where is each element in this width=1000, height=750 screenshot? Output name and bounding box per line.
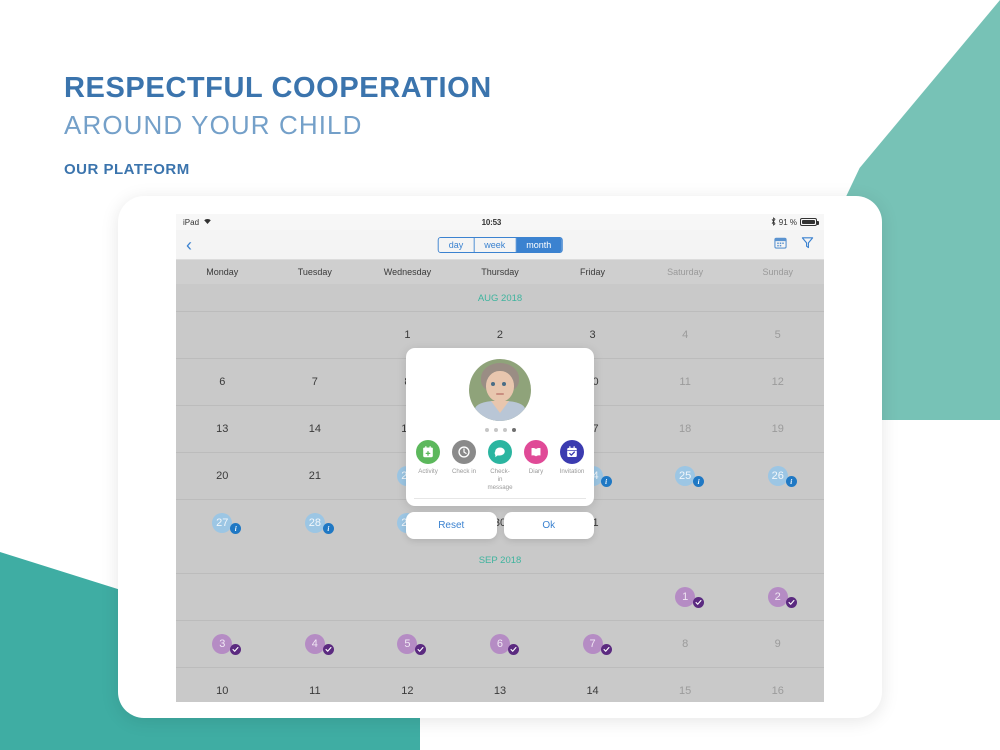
day-number: 4	[305, 634, 325, 654]
day-number: 8	[682, 638, 688, 650]
calendar-day-cell[interactable]: 5	[361, 621, 454, 667]
calendar-day-cell[interactable]: 11	[639, 359, 732, 405]
calendar-empty-cell	[546, 574, 639, 620]
calendar-day-highlighted: 7	[583, 634, 603, 654]
modal-action-label: Check in	[452, 468, 476, 476]
modal-card: ActivityCheck inCheck-in messageDiaryInv…	[406, 348, 594, 506]
page-eyebrow: OUR PLATFORM	[64, 161, 492, 178]
weekday-monday: Monday	[176, 267, 269, 277]
calendar-day-highlighted: 4	[305, 634, 325, 654]
battery-percent: 91 %	[779, 218, 797, 227]
check-badge-icon[interactable]	[693, 597, 704, 608]
modal-action-check-in[interactable]: Check in	[450, 440, 478, 491]
modal-action-label: Check-in message	[486, 468, 514, 491]
calendar-day-cell[interactable]: 14	[269, 406, 362, 452]
app-toolbar: ‹ day week month	[176, 230, 824, 260]
info-badge-icon[interactable]: i	[693, 476, 704, 487]
check-badge-icon[interactable]	[230, 644, 241, 655]
status-bar: iPad 10:53 91 %	[176, 214, 824, 230]
weekday-header-row: Monday Tuesday Wednesday Thursday Friday…	[176, 260, 824, 284]
calendar-day-cell[interactable]: 15	[639, 668, 732, 702]
info-badge-icon[interactable]: i	[601, 476, 612, 487]
weekday-wednesday: Wednesday	[361, 267, 454, 277]
calendar-day-cell[interactable]: 7	[546, 621, 639, 667]
filter-icon[interactable]	[801, 236, 814, 254]
modal-divider	[414, 498, 586, 499]
modal-action-label: Invitation	[560, 468, 585, 476]
calendar-empty-cell	[639, 500, 732, 546]
day-number: 9	[775, 638, 781, 650]
calendar-day-cell[interactable]: 3	[176, 621, 269, 667]
calendar-day-cell[interactable]: 16	[731, 668, 824, 702]
day-number: 13	[494, 685, 506, 697]
modal-action-label: Activity	[418, 468, 438, 476]
modal-action-diary[interactable]: Diary	[522, 440, 550, 491]
day-number: 14	[586, 685, 598, 697]
day-number: 25	[675, 466, 695, 486]
bluetooth-icon	[771, 217, 776, 228]
back-button[interactable]: ‹	[186, 236, 192, 254]
day-number: 3	[590, 329, 596, 341]
calendar-empty-cell	[361, 574, 454, 620]
calendar-picker-icon[interactable]	[774, 236, 787, 254]
day-number: 7	[583, 634, 603, 654]
day-number: 2	[497, 329, 503, 341]
calendar-day-cell[interactable]: 21	[269, 453, 362, 499]
calendar-day-cell[interactable]: 2	[731, 574, 824, 620]
day-number: 12	[772, 376, 784, 388]
calendar-day-cell[interactable]: 13	[454, 668, 547, 702]
calendar-day-cell[interactable]: 4	[269, 621, 362, 667]
calendar-day-cell[interactable]: 18	[639, 406, 732, 452]
calendar-day-cell[interactable]: 11	[269, 668, 362, 702]
status-time: 10:53	[212, 218, 771, 227]
segment-week[interactable]: week	[474, 238, 516, 252]
weekday-tuesday: Tuesday	[269, 267, 362, 277]
calendar-day-cell[interactable]: 12	[361, 668, 454, 702]
weekday-sunday: Sunday	[731, 267, 824, 277]
day-number: 18	[679, 423, 691, 435]
calendar-empty-cell	[454, 574, 547, 620]
day-number: 7	[312, 376, 318, 388]
calendar-day-cell[interactable]: 1	[639, 574, 732, 620]
calendar-day-cell[interactable]: 14	[546, 668, 639, 702]
calendar-day-highlighted: 1	[675, 587, 695, 607]
calendar-day-highlighted: 5	[397, 634, 417, 654]
weekday-thursday: Thursday	[454, 267, 547, 277]
status-bar-right: 91 %	[771, 217, 817, 228]
calendar-day-highlighted: 25i	[675, 466, 695, 486]
open-book-icon	[524, 440, 548, 464]
modal-action-invitation[interactable]: Invitation	[558, 440, 586, 491]
pagination-dots[interactable]	[485, 428, 516, 432]
day-number: 12	[401, 685, 413, 697]
pagination-dot[interactable]	[512, 428, 516, 432]
day-number: 11	[309, 685, 320, 697]
pagination-dot[interactable]	[494, 428, 498, 432]
day-number: 27	[212, 513, 232, 533]
calendar-day-cell[interactable]: 4	[639, 312, 732, 358]
day-number: 1	[675, 587, 695, 607]
calendar-day-cell[interactable]: 10	[176, 668, 269, 702]
check-badge-icon[interactable]	[508, 644, 519, 655]
calendar-empty-cell	[731, 500, 824, 546]
reset-button[interactable]: Reset	[406, 512, 497, 539]
ok-button[interactable]: Ok	[504, 512, 595, 539]
wifi-icon	[203, 217, 212, 227]
page-title: RESPECTFUL COOPERATION	[64, 70, 492, 106]
day-number: 20	[216, 470, 228, 482]
weekday-saturday: Saturday	[639, 267, 732, 277]
calendar-week-row: 12	[176, 573, 824, 620]
modal-buttons: Reset Ok	[406, 512, 594, 539]
info-badge-icon[interactable]: i	[786, 476, 797, 487]
calendar-week-row: 10111213141516	[176, 667, 824, 702]
modal-action-check-in-message[interactable]: Check-in message	[486, 440, 514, 491]
calendar-day-cell[interactable]: 6	[176, 359, 269, 405]
calendar-day-cell[interactable]: 26i	[731, 453, 824, 499]
day-number: 10	[216, 685, 228, 697]
page-headings: RESPECTFUL COOPERATION AROUND YOUR CHILD…	[64, 70, 492, 178]
calendar-day-cell[interactable]: 19	[731, 406, 824, 452]
calendar-day-cell[interactable]: 6	[454, 621, 547, 667]
device-label: iPad	[183, 218, 199, 227]
speech-bubble-icon	[488, 440, 512, 464]
day-number: 15	[679, 685, 691, 697]
day-number: 4	[682, 329, 688, 341]
calendar-empty-cell	[176, 312, 269, 358]
day-number: 19	[772, 423, 784, 435]
calendar-day-cell[interactable]: 8	[639, 621, 732, 667]
day-number: 5	[397, 634, 417, 654]
day-number: 26	[768, 466, 788, 486]
day-number: 3	[212, 634, 232, 654]
info-badge-icon[interactable]: i	[323, 523, 334, 534]
status-bar-left: iPad	[183, 217, 212, 227]
calendar-empty-cell	[269, 574, 362, 620]
modal-action-activity[interactable]: Activity	[414, 440, 442, 491]
calendar-check-icon	[560, 440, 584, 464]
check-badge-icon[interactable]	[601, 644, 612, 655]
month-label: AUG 2018	[176, 284, 824, 311]
calendar-day-highlighted: 6	[490, 634, 510, 654]
calendar-day-cell[interactable]: 5	[731, 312, 824, 358]
day-number: 6	[490, 634, 510, 654]
calendar-day-cell[interactable]: 25i	[639, 453, 732, 499]
modal-action-list: ActivityCheck inCheck-in messageDiaryInv…	[414, 440, 586, 491]
calendar-day-highlighted: 28i	[305, 513, 325, 533]
day-number: 21	[309, 470, 321, 482]
day-number: 2	[768, 587, 788, 607]
child-action-modal: ActivityCheck inCheck-in messageDiaryInv…	[406, 348, 594, 539]
calendar-week-row: 3456789	[176, 620, 824, 667]
clock-icon	[452, 440, 476, 464]
segment-month[interactable]: month	[516, 238, 561, 252]
weekday-friday: Friday	[546, 267, 639, 277]
pagination-dot[interactable]	[485, 428, 489, 432]
page-subtitle: AROUND YOUR CHILD	[64, 108, 492, 143]
day-number: 6	[219, 376, 225, 388]
calendar-day-cell[interactable]: 12	[731, 359, 824, 405]
calendar-empty-cell	[269, 312, 362, 358]
calendar-day-cell[interactable]: 7	[269, 359, 362, 405]
pagination-dot[interactable]	[503, 428, 507, 432]
info-badge-icon[interactable]: i	[230, 523, 241, 534]
day-number: 16	[772, 685, 784, 697]
check-badge-icon[interactable]	[415, 644, 426, 655]
day-number: 28	[305, 513, 325, 533]
avatar	[469, 359, 531, 421]
calendar-day-cell[interactable]: 9	[731, 621, 824, 667]
calendar-day-highlighted: 2	[768, 587, 788, 607]
calendar-day-cell[interactable]: 27i	[176, 500, 269, 546]
day-number: 11	[679, 376, 690, 388]
modal-action-label: Diary	[529, 468, 543, 476]
calendar-empty-cell	[176, 574, 269, 620]
calendar-day-cell[interactable]: 28i	[269, 500, 362, 546]
check-badge-icon[interactable]	[786, 597, 797, 608]
day-number: 13	[216, 423, 228, 435]
calendar-day-highlighted: 26i	[768, 466, 788, 486]
view-mode-segmented-control[interactable]: day week month	[438, 237, 563, 253]
segment-day[interactable]: day	[439, 238, 475, 252]
activity-calendar-icon	[416, 440, 440, 464]
calendar-day-cell[interactable]: 13	[176, 406, 269, 452]
calendar-day-highlighted: 3	[212, 634, 232, 654]
battery-icon	[800, 218, 817, 226]
calendar-day-highlighted: 27i	[212, 513, 232, 533]
day-number: 14	[309, 423, 321, 435]
day-number: 5	[775, 329, 781, 341]
check-badge-icon[interactable]	[323, 644, 334, 655]
ipad-screen: iPad 10:53 91 % ‹ day week month	[176, 214, 824, 702]
day-number: 1	[404, 329, 410, 341]
calendar-day-cell[interactable]: 20	[176, 453, 269, 499]
month-label: SEP 2018	[176, 546, 824, 573]
toolbar-actions	[774, 236, 814, 254]
